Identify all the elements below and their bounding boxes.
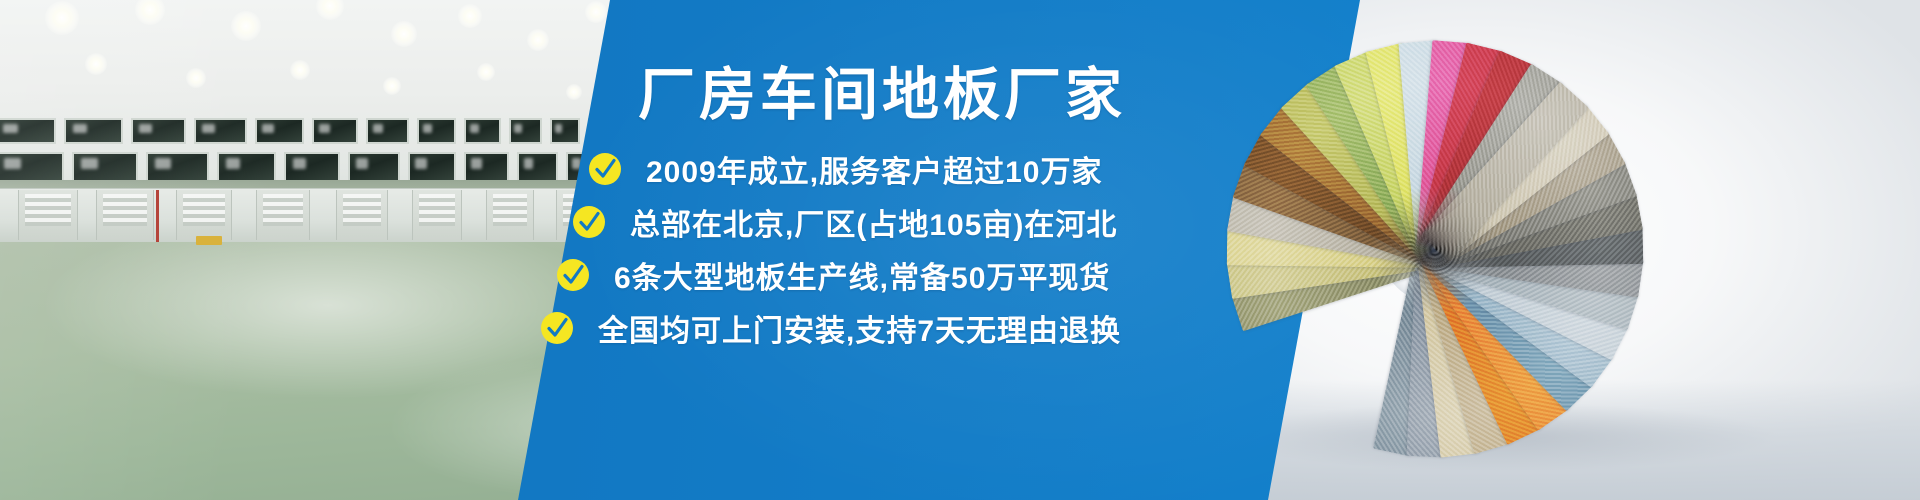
wall-window <box>312 118 358 144</box>
wall-window <box>509 118 542 144</box>
wall-window <box>255 118 304 144</box>
check-circle-icon <box>572 205 606 239</box>
banner-headline: 厂房车间地板厂家 <box>638 66 1126 126</box>
yellow-equipment <box>196 236 222 245</box>
wall-window <box>0 118 56 144</box>
roller-shutter-door <box>96 190 154 240</box>
wall-window <box>464 118 500 144</box>
wall-window <box>464 152 509 182</box>
feature-text: 总部在北京,厂区(占地105亩)在河北 <box>630 200 1117 244</box>
feature-text: 全国均可上门安装,支持7天无理由退换 <box>598 306 1121 350</box>
wall-window <box>366 118 409 144</box>
wall-window <box>550 118 580 144</box>
feature-item: 全国均可上门安装,支持7天无理由退换 <box>540 301 1320 354</box>
banner-feature-list: 2009年成立,服务客户超过10万家 总部在北京,厂区(占地105亩)在河北 <box>540 142 1320 354</box>
red-pipe <box>156 190 159 242</box>
wall-window <box>194 118 246 144</box>
promo-banner: 厂房车间地板厂家 2009年成立,服务客户超过10万家 <box>0 0 1920 500</box>
feature-item: 2009年成立,服务客户超过10万家 <box>588 142 1320 195</box>
roller-shutter-door <box>18 190 78 240</box>
roller-shutter-door <box>176 190 232 240</box>
wall-window <box>131 118 187 144</box>
check-circle-icon <box>588 152 622 186</box>
wall-window <box>348 152 400 182</box>
roller-shutter-door <box>412 190 462 240</box>
wall-window <box>0 152 64 182</box>
wall-window <box>217 152 276 182</box>
feature-item: 6条大型地板生产线,常备50万平现货 <box>556 248 1320 301</box>
feature-text: 6条大型地板生产线,常备50万平现货 <box>614 253 1110 297</box>
wall-window <box>408 152 456 182</box>
wall-window <box>417 118 457 144</box>
wall-window <box>64 118 123 144</box>
wall-window-row <box>0 118 615 144</box>
check-circle-icon <box>556 258 590 292</box>
roller-shutter-door <box>336 190 388 240</box>
check-circle-icon <box>540 311 574 345</box>
roller-shutter-door <box>486 190 534 240</box>
wall-window <box>72 152 138 182</box>
feature-text: 2009年成立,服务客户超过10万家 <box>646 147 1102 191</box>
feature-item: 总部在北京,厂区(占地105亩)在河北 <box>572 195 1320 248</box>
wall-window <box>146 152 209 182</box>
wall-window <box>284 152 340 182</box>
roller-shutter-door <box>256 190 310 240</box>
